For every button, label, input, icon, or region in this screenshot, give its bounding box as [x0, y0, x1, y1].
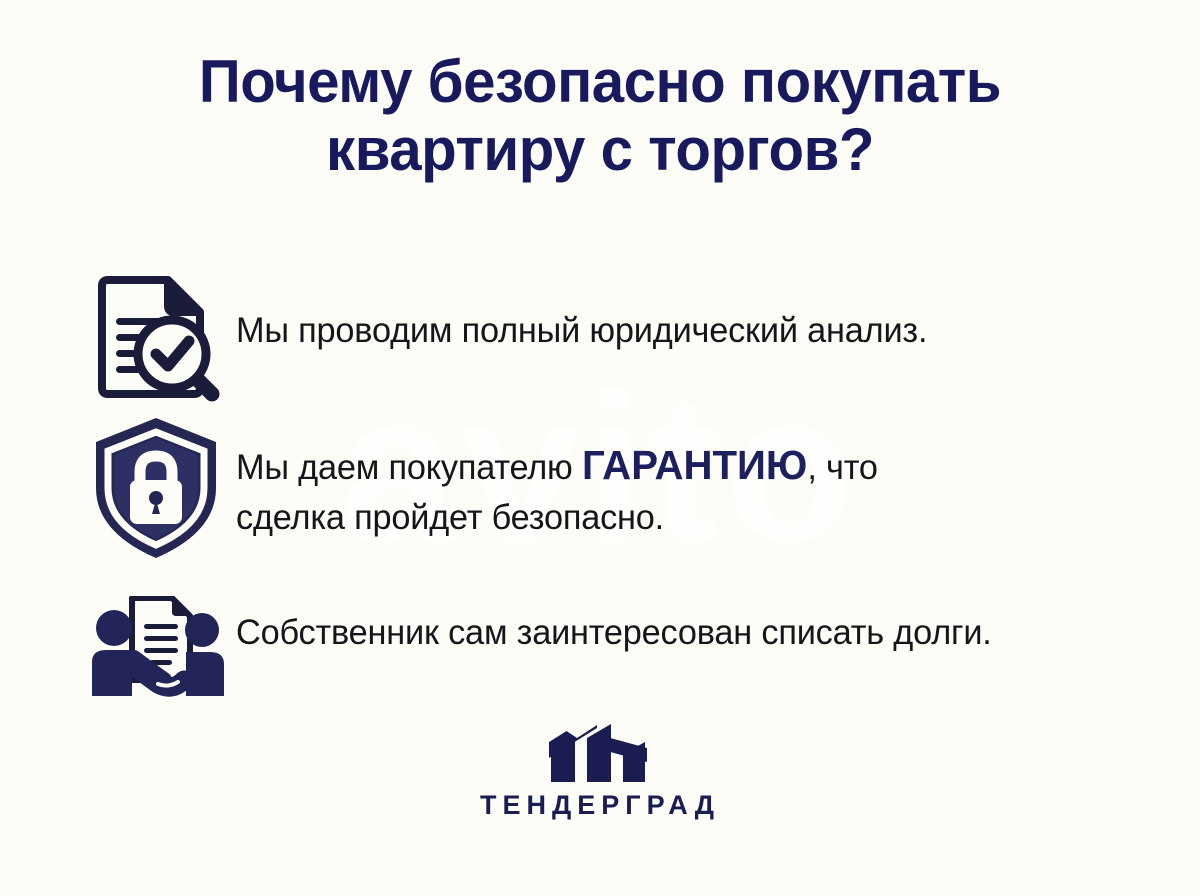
benefit-text-owner-debts: Собственник сам заинтересован списать до… [236, 608, 1142, 658]
handshake-document-icon [88, 586, 236, 700]
logo-wordmark: ТЕНДЕРГРАД [480, 792, 720, 819]
benefit-text-prefix: Мы даем покупателю [236, 448, 582, 487]
benefit-row-legal-analysis: Мы проводим полный юридический анализ. [0, 272, 1200, 408]
benefit-row-owner-debts: Собственник сам заинтересован списать до… [0, 586, 1200, 708]
promo-poster: Почему безопасно покупать квартиру с тор… [0, 0, 1200, 896]
shield-lock-icon [88, 408, 236, 562]
benefit-text-cell: Мы даем покупателю ГАРАНТИЮ, что сделка … [236, 408, 1200, 543]
page-title: Почему безопасно покупать квартиру с тор… [0, 48, 1200, 184]
document-magnifier-check-icon [88, 272, 236, 402]
benefit-text-suffix: , что [807, 448, 877, 487]
benefit-text-cell: Собственник сам заинтересован списать до… [236, 586, 1200, 658]
benefit-row-guarantee: Мы даем покупателю ГАРАНТИЮ, что сделка … [0, 408, 1200, 586]
benefit-text-cell: Мы проводим полный юридический анализ. [236, 272, 1200, 356]
benefit-text-guarantee-line1: Мы даем покупателю ГАРАНТИЮ, что [236, 440, 1142, 493]
benefit-text-guarantee-line2: сделка пройдет безопасно. [236, 493, 1142, 543]
building-logo-icon [541, 706, 659, 784]
title-line-1: Почему безопасно покупать [18, 48, 1182, 116]
title-line-2: квартиру с торгов? [18, 116, 1182, 184]
benefits-list: Мы проводим полный юридический анализ. [0, 272, 1200, 708]
benefit-text-legal-analysis: Мы проводим полный юридический анализ. [236, 306, 1142, 356]
benefit-text-emphasis: ГАРАНТИЮ [582, 442, 807, 488]
brand-logo: ТЕНДЕРГРАД [0, 706, 1200, 819]
